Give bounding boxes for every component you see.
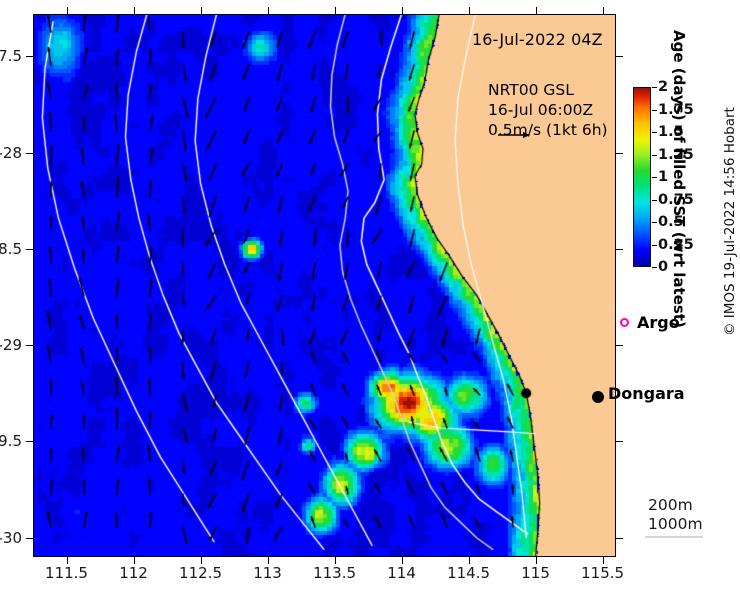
x-tick-label: 111.5	[45, 564, 88, 582]
y-tick-label: -28	[0, 144, 22, 162]
x-tick-top	[268, 7, 269, 14]
y-tick	[26, 538, 33, 539]
x-tick-top	[134, 7, 135, 14]
dongara-legend-label: Dongara	[608, 384, 685, 403]
x-tick-top	[335, 7, 336, 14]
x-tick-label: 113.5	[313, 564, 356, 582]
colorbar-title: Age (days) of filled SST (wrt latest)	[670, 30, 688, 260]
y-tick-label: -29.5	[0, 432, 22, 450]
vector-scale-arrow-icon	[497, 130, 531, 140]
colorbar-tick-label: 1	[658, 169, 668, 185]
colorbar-tick	[652, 222, 657, 223]
date-stamp: 16-Jul-2022 04Z	[472, 30, 603, 49]
x-tick	[134, 557, 135, 564]
depth-1000m-label: 1000m	[648, 515, 703, 534]
bathymetry-legend: 200m 1000m	[648, 496, 703, 534]
y-tick-right	[616, 153, 623, 154]
y-tick-right	[616, 538, 623, 539]
colorbar-tick	[652, 245, 657, 246]
x-tick-top	[469, 7, 470, 14]
y-tick	[26, 153, 33, 154]
x-tick	[603, 557, 604, 564]
y-tick-right	[616, 249, 623, 250]
colorbar-tick-label: 0	[658, 259, 668, 275]
y-tick-label: -30	[0, 529, 22, 547]
x-tick	[469, 557, 470, 564]
x-tick-label: 112.5	[179, 564, 222, 582]
vector-source-label: NRT00 GSL	[488, 80, 608, 100]
y-tick-right	[616, 345, 623, 346]
x-tick-label: 115	[521, 564, 550, 582]
colorbar-tick-label: 2	[658, 79, 668, 95]
figure-root: 16-Jul-2022 04Z NRT00 GSL 16-Jul 06:00Z …	[0, 0, 740, 592]
y-tick-label: -28.5	[0, 240, 22, 258]
y-tick-right	[616, 441, 623, 442]
y-tick	[26, 249, 33, 250]
x-tick-label: 114	[387, 564, 416, 582]
x-tick-top	[402, 7, 403, 14]
x-tick	[67, 557, 68, 564]
depth-200m-line-sample	[645, 516, 703, 518]
x-tick	[536, 557, 537, 564]
y-tick	[26, 441, 33, 442]
colorbar-tick	[652, 155, 657, 156]
x-tick-label: 114.5	[447, 564, 490, 582]
colorbar-tick	[652, 132, 657, 133]
depth-1000m-line-sample	[645, 536, 703, 538]
colorbar-tick	[652, 177, 657, 178]
x-tick-label: 112	[119, 564, 148, 582]
colorbar-tick	[652, 110, 657, 111]
y-tick-label: -27.5	[0, 47, 22, 65]
depth-200m-label: 200m	[648, 496, 703, 515]
x-tick	[268, 557, 269, 564]
colorbar-tick	[652, 267, 657, 268]
credit-text: © IMOS 19-Jul-2022 14:56 Hobart	[722, 107, 738, 336]
colorbar-tick	[652, 87, 657, 88]
y-tick-label: -29	[0, 336, 22, 354]
x-tick-top	[603, 7, 604, 14]
y-tick	[26, 56, 33, 57]
y-tick-right	[616, 56, 623, 57]
x-tick-label: 113	[253, 564, 282, 582]
x-tick	[201, 557, 202, 564]
colorbar-gradient	[633, 87, 651, 267]
vector-time-label: 16-Jul 06:00Z	[488, 100, 608, 120]
x-tick-top	[201, 7, 202, 14]
argo-legend-label: Argo	[637, 313, 680, 332]
x-tick	[335, 557, 336, 564]
x-tick-label: 115.5	[581, 564, 624, 582]
x-tick-top	[67, 7, 68, 14]
dongara-marker-icon	[592, 391, 604, 403]
colorbar-tick	[652, 200, 657, 201]
colorbar[interactable]	[633, 87, 651, 267]
x-tick	[402, 557, 403, 564]
y-tick	[26, 345, 33, 346]
x-tick-top	[536, 7, 537, 14]
argo-marker-icon	[620, 318, 629, 327]
